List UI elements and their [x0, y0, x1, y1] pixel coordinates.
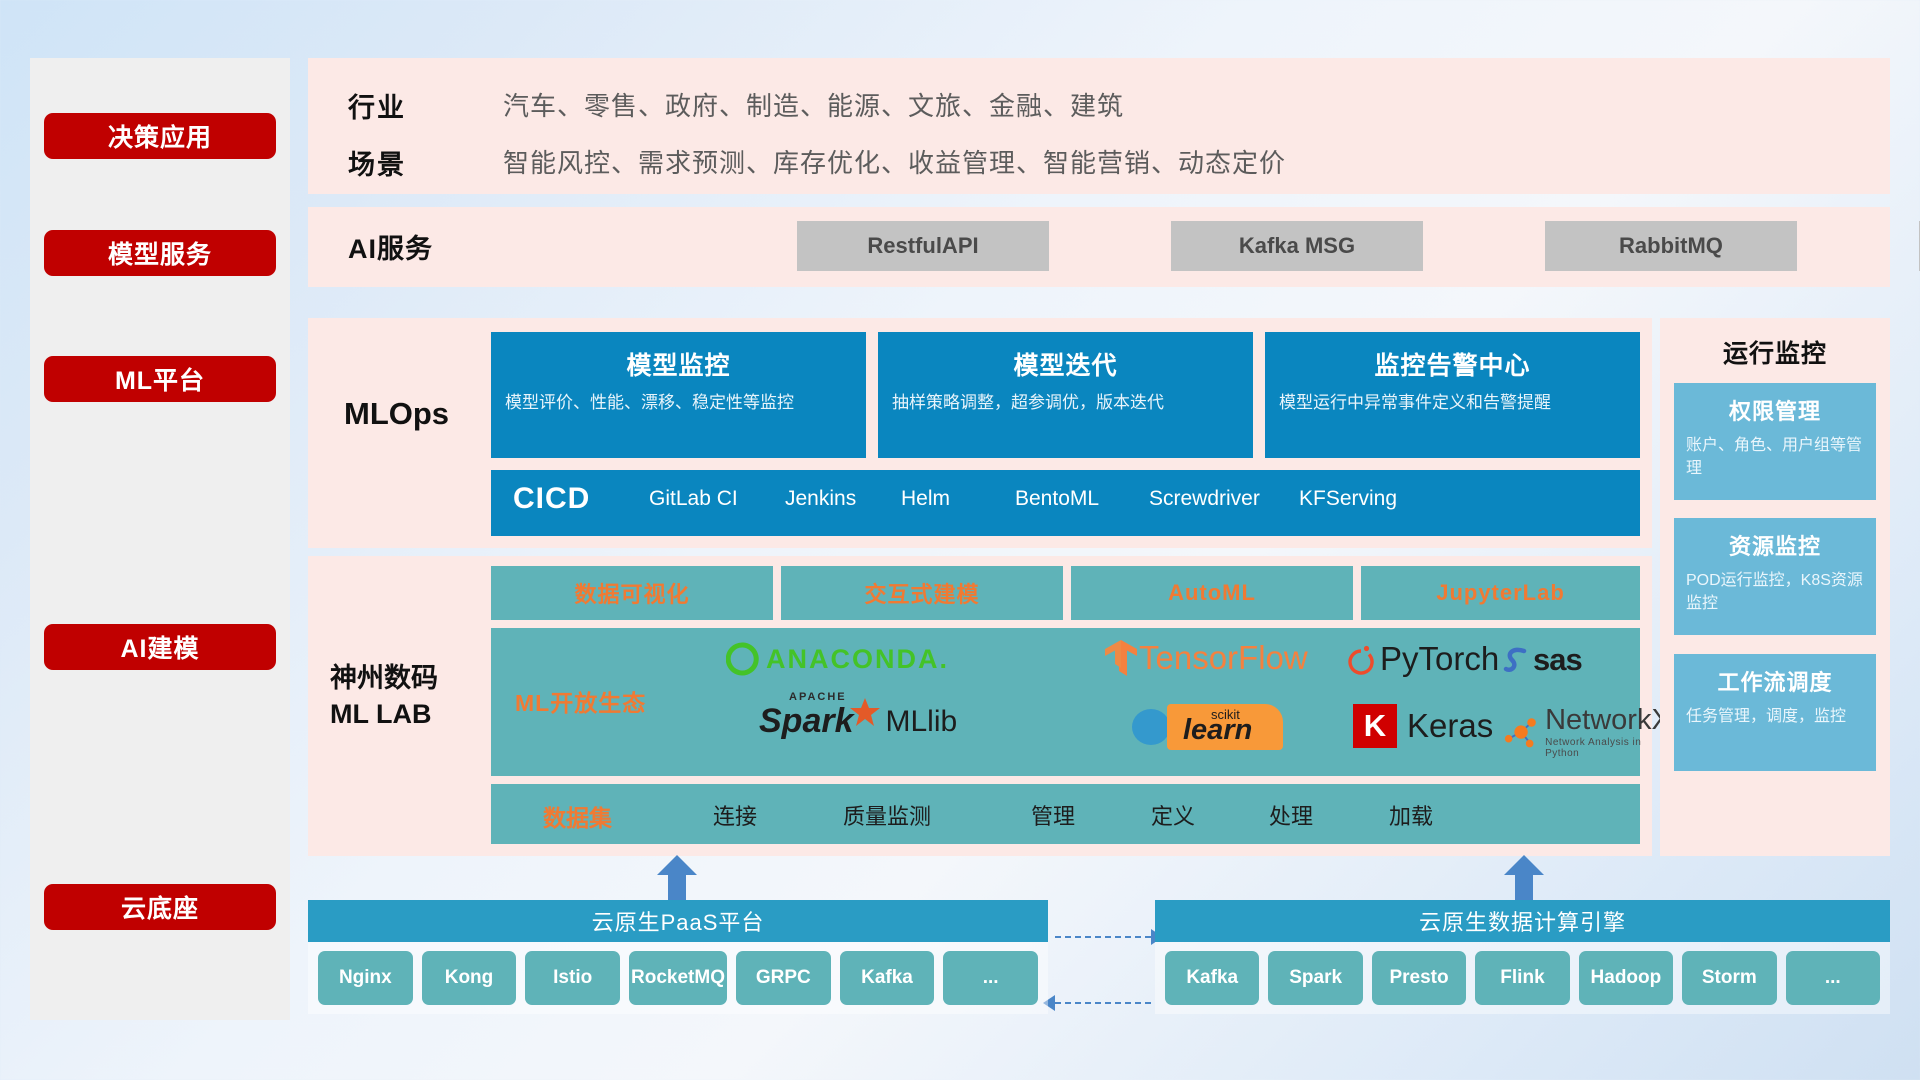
spark-star-icon — [848, 696, 882, 730]
card-desc: 模型评价、性能、漂移、稳定性等监控 — [505, 391, 852, 416]
ml-lab-label-line2: ML LAB — [330, 696, 490, 732]
tensorflow-icon — [1103, 638, 1139, 678]
cicd-item-helm[interactable]: Helm — [901, 486, 1019, 512]
pytorch-logo: PyTorch — [1346, 640, 1499, 678]
compute-chip-hadoop[interactable]: Hadoop — [1579, 951, 1673, 1005]
card-desc: 账户、角色、用户组等管理 — [1686, 434, 1864, 480]
monitoring-header: 运行监控 — [1660, 334, 1890, 370]
cloud-chip-rocketmq[interactable]: RocketMQ — [629, 951, 727, 1005]
connector-left-arrow — [1055, 1002, 1151, 1004]
sidebar-item-ml-platform[interactable]: ML平台 — [44, 356, 276, 402]
card-desc: 任务管理，调度，监控 — [1686, 705, 1864, 728]
dataset-row: 数据集 连接 质量监测 管理 定义 处理 加载 — [491, 784, 1640, 844]
up-arrow-compute-icon — [1502, 855, 1546, 901]
dataset-label: 数据集 — [543, 799, 612, 833]
card-desc: 抽样策略调整，超参调优，版本迭代 — [892, 391, 1239, 416]
tool-chip-automl[interactable]: AutoML — [1071, 566, 1353, 620]
cloud-compute-chips: Kafka Spark Presto Flink Hadoop Storm ..… — [1155, 942, 1890, 1014]
sas-logo-text: sas — [1533, 642, 1582, 678]
scikit-learn-logo: scikit learn — [1131, 704, 1283, 750]
sidebar-item-decision-app[interactable]: 决策应用 — [44, 113, 276, 159]
mlops-label: MLOps — [344, 396, 449, 432]
scenario-value: 智能风控、需求预测、库存优化、收益管理、智能营销、动态定价 — [503, 143, 1286, 180]
ai-service-label: AI服务 — [348, 227, 433, 266]
networkx-icon — [1501, 713, 1541, 753]
dataset-item-quality-monitoring[interactable]: 质量监测 — [843, 799, 931, 831]
spark-mllib-logo: APACHE Spark MLlib — [759, 702, 957, 741]
cicd-item-kfserving[interactable]: KFServing — [1299, 486, 1417, 512]
card-title: 模型迭代 — [878, 346, 1253, 382]
applications-band: 行业 汽车、零售、政府、制造、能源、文旅、金融、建筑 场景 智能风控、需求预测、… — [308, 58, 1890, 194]
ml-lab-label-line1: 神州数码 — [330, 660, 490, 696]
ml-lab-label: 神州数码 ML LAB — [330, 660, 490, 733]
mlops-band: MLOps 模型监控 模型评价、性能、漂移、稳定性等监控 模型迭代 抽样策略调整… — [308, 318, 1652, 548]
sidebar-item-ai-modeling[interactable]: AI建模 — [44, 624, 276, 670]
compute-chip-kafka[interactable]: Kafka — [1165, 951, 1259, 1005]
ml-ecosystem-panel: ML开放生态 ANACONDA. TensorFlow — [491, 628, 1640, 776]
card-title: 权限管理 — [1674, 394, 1876, 426]
industry-label: 行业 — [348, 86, 406, 125]
card-title: 资源监控 — [1674, 529, 1876, 561]
card-title: 模型监控 — [491, 346, 866, 382]
anaconda-logo-text: ANACONDA. — [766, 644, 949, 675]
mlops-card-model-monitoring[interactable]: 模型监控 模型评价、性能、漂移、稳定性等监控 — [491, 332, 866, 458]
sas-icon — [1501, 644, 1533, 676]
sidebar-item-label: 决策应用 — [108, 118, 212, 154]
cloud-compute-title: 云原生数据计算引擎 — [1155, 900, 1890, 942]
networkx-logo: NetworkX Network Analysis in Python — [1501, 706, 1673, 759]
compute-chip-storm[interactable]: Storm — [1682, 951, 1776, 1005]
service-chip-rabbitmq[interactable]: RabbitMQ — [1545, 221, 1797, 271]
industry-value: 汽车、零售、政府、制造、能源、文旅、金融、建筑 — [503, 86, 1124, 123]
cloud-chip-nginx[interactable]: Nginx — [318, 951, 413, 1005]
spark-logo-text: Spark — [759, 702, 854, 741]
compute-chip-spark[interactable]: Spark — [1268, 951, 1362, 1005]
sidebar-item-cloud-base[interactable]: 云底座 — [44, 884, 276, 930]
cloud-compute-block: 云原生数据计算引擎 Kafka Spark Presto Flink Hadoo… — [1155, 900, 1890, 1014]
ai-service-band: AI服务 RestfulAPI Kafka MSG RabbitMQ Web服务 — [308, 207, 1890, 287]
sidebar-item-label: ML平台 — [115, 361, 205, 397]
sidebar-item-label: AI建模 — [120, 629, 199, 665]
dataset-item-load[interactable]: 加载 — [1389, 799, 1433, 831]
compute-chip-more[interactable]: ... — [1786, 951, 1880, 1005]
cicd-item-gitlab-ci[interactable]: GitLab CI — [649, 486, 767, 512]
cloud-chip-kafka[interactable]: Kafka — [840, 951, 935, 1005]
tool-chip-interactive-modeling[interactable]: 交互式建模 — [781, 566, 1063, 620]
cicd-item-bentoml[interactable]: BentoML — [1015, 486, 1133, 512]
sidebar-item-label: 云底座 — [121, 889, 199, 925]
tool-chip-jupyterlab[interactable]: JupyterLab — [1361, 566, 1640, 620]
sidebar-item-label: 模型服务 — [108, 235, 212, 271]
cicd-item-screwdriver[interactable]: Screwdriver — [1149, 486, 1267, 512]
cloud-chip-istio[interactable]: Istio — [525, 951, 620, 1005]
connector-right-arrow — [1055, 936, 1151, 938]
mlops-card-model-iteration[interactable]: 模型迭代 抽样策略调整，超参调优，版本迭代 — [878, 332, 1253, 458]
dataset-item-manage[interactable]: 管理 — [1031, 799, 1075, 831]
cloud-paas-chips: Nginx Kong Istio RocketMQ GRPC Kafka ... — [308, 942, 1048, 1014]
card-desc: 模型运行中异常事件定义和告警提醒 — [1279, 391, 1626, 416]
mllib-text: MLlib — [886, 705, 958, 739]
service-chip-kafka-msg[interactable]: Kafka MSG — [1171, 221, 1423, 271]
runtime-monitoring-panel: 运行监控 权限管理 账户、角色、用户组等管理 资源监控 POD运行监控，K8S资… — [1660, 318, 1890, 856]
monitoring-card-workflow[interactable]: 工作流调度 任务管理，调度，监控 — [1674, 654, 1876, 771]
cloud-chip-kong[interactable]: Kong — [422, 951, 517, 1005]
compute-chip-flink[interactable]: Flink — [1475, 951, 1569, 1005]
cicd-row: CICD GitLab CI Jenkins Helm BentoML Scre… — [491, 470, 1640, 536]
monitoring-card-permission[interactable]: 权限管理 账户、角色、用户组等管理 — [1674, 383, 1876, 500]
pytorch-icon — [1346, 642, 1376, 676]
layer-rail: 决策应用 模型服务 ML平台 AI建模 云底座 — [30, 58, 290, 1020]
spark-apache-text: APACHE — [789, 691, 847, 703]
cloud-chip-more[interactable]: ... — [943, 951, 1038, 1005]
keras-logo: K Keras — [1353, 704, 1493, 748]
service-chip-restfulapi[interactable]: RestfulAPI — [797, 221, 1049, 271]
monitoring-card-resource[interactable]: 资源监控 POD运行监控，K8S资源监控 — [1674, 518, 1876, 635]
cloud-chip-grpc[interactable]: GRPC — [736, 951, 831, 1005]
networkx-tagline: Network Analysis in Python — [1545, 737, 1673, 759]
cloud-paas-title: 云原生PaaS平台 — [308, 900, 1048, 942]
scenario-label: 场景 — [348, 143, 406, 182]
card-title: 监控告警中心 — [1265, 346, 1640, 382]
anaconda-icon — [726, 642, 760, 676]
cloud-paas-block: 云原生PaaS平台 Nginx Kong Istio RocketMQ GRPC… — [308, 900, 1048, 1014]
sas-logo: sas — [1501, 642, 1582, 678]
ai-modeling-band: 神州数码 ML LAB 数据可视化 交互式建模 AutoML JupyterLa… — [308, 556, 1652, 856]
card-desc: POD运行监控，K8S资源监控 — [1686, 569, 1864, 615]
architecture-diagram: 决策应用 模型服务 ML平台 AI建模 云底座 行业 汽车、零售、政府、制造、能… — [0, 0, 1920, 1080]
learn-text: learn — [1183, 714, 1252, 747]
networkx-logo-text: NetworkX — [1545, 706, 1673, 735]
up-arrow-paas-icon — [655, 855, 699, 901]
ml-ecosystem-label: ML开放生态 — [515, 684, 646, 718]
sidebar-item-model-service[interactable]: 模型服务 — [44, 230, 276, 276]
cicd-item-jenkins[interactable]: Jenkins — [785, 486, 903, 512]
mlops-card-alert-center[interactable]: 监控告警中心 模型运行中异常事件定义和告警提醒 — [1265, 332, 1640, 458]
dataset-item-process[interactable]: 处理 — [1269, 799, 1313, 831]
cicd-label: CICD — [513, 482, 590, 516]
pytorch-logo-text: PyTorch — [1380, 640, 1499, 678]
tool-chip-data-visualization[interactable]: 数据可视化 — [491, 566, 773, 620]
compute-chip-presto[interactable]: Presto — [1372, 951, 1466, 1005]
keras-mark-icon: K — [1353, 704, 1397, 748]
tensorflow-logo: TensorFlow — [1103, 638, 1308, 678]
keras-logo-text: Keras — [1407, 707, 1493, 745]
dataset-item-define[interactable]: 定义 — [1151, 799, 1195, 831]
tensorflow-logo-text: TensorFlow — [1139, 639, 1308, 677]
card-title: 工作流调度 — [1674, 665, 1876, 697]
anaconda-logo: ANACONDA. — [726, 642, 949, 676]
dataset-item-connect[interactable]: 连接 — [713, 799, 757, 831]
